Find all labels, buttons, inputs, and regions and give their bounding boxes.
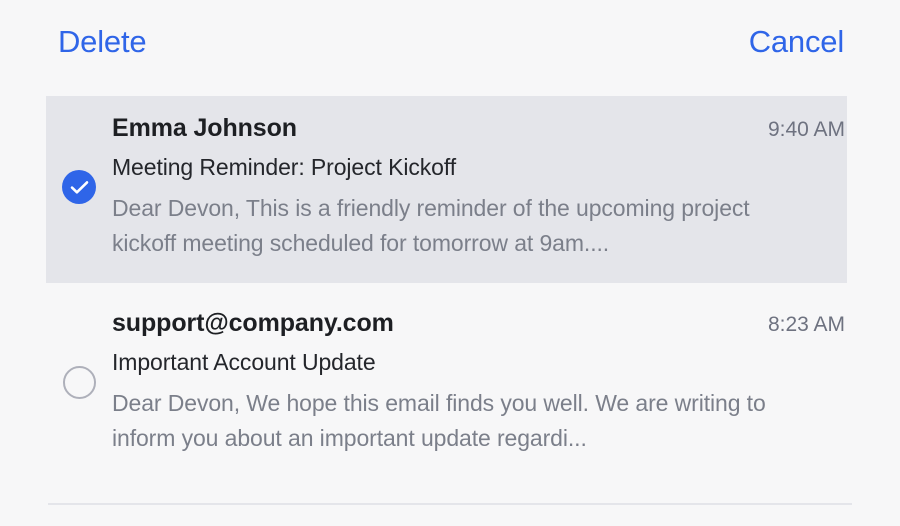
email-timestamp: 8:23 AM	[750, 313, 845, 337]
email-preview: Dear Devon, This is a friendly reminder …	[112, 191, 772, 261]
delete-button[interactable]: Delete	[58, 26, 146, 57]
email-preview: Dear Devon, We hope this email finds you…	[112, 386, 772, 456]
email-header-row: support@company.com 8:23 AM	[112, 309, 845, 338]
cancel-button[interactable]: Cancel	[749, 26, 844, 57]
circle-outline-icon[interactable]	[63, 366, 96, 399]
email-timestamp: 9:40 AM	[750, 118, 845, 142]
email-subject: Important Account Update	[112, 349, 845, 376]
email-content: Emma Johnson 9:40 AM Meeting Reminder: P…	[112, 114, 847, 261]
email-list-item[interactable]: support@company.com 8:23 AM Important Ac…	[46, 309, 847, 456]
email-content: support@company.com 8:23 AM Important Ac…	[112, 309, 847, 456]
email-sender: Emma Johnson	[112, 114, 297, 143]
email-sender: support@company.com	[112, 309, 394, 338]
email-header-row: Emma Johnson 9:40 AM	[112, 114, 845, 143]
selection-toolbar: Delete Cancel	[0, 0, 900, 82]
email-list-item-selected[interactable]: Emma Johnson 9:40 AM Meeting Reminder: P…	[46, 96, 847, 283]
selection-control	[46, 309, 112, 456]
list-divider	[48, 503, 852, 505]
check-circle-filled-icon[interactable]	[62, 170, 96, 204]
selection-control-selected	[46, 114, 112, 261]
email-list: Emma Johnson 9:40 AM Meeting Reminder: P…	[0, 82, 900, 456]
email-subject: Meeting Reminder: Project Kickoff	[112, 154, 845, 181]
